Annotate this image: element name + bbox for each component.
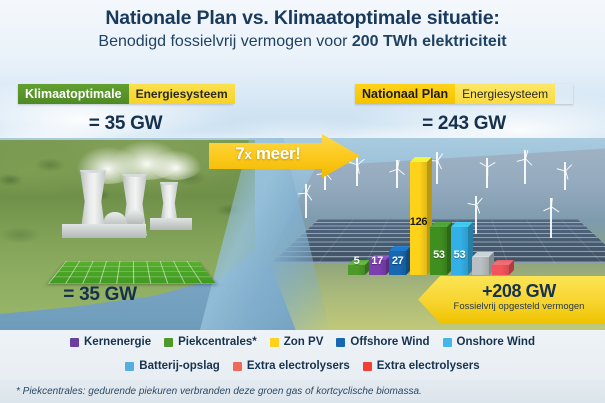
total-extra-value: +208 GW <box>438 281 600 302</box>
bar-value-label: 5 <box>348 255 365 267</box>
multiplier-word: meer! <box>251 144 300 163</box>
total-extra-caption: Fossielvrij opgesteld vermogen <box>434 301 604 312</box>
title-line-2-prefix: Benodigd fossielvrij vermogen voor <box>98 33 351 50</box>
plant-building-2 <box>150 218 192 230</box>
legend-item-extra-electrolysers[interactable]: Extra electrolysers <box>233 360 350 372</box>
infographic-root: Nationale Plan vs. Klimaatoptimale situa… <box>0 0 605 403</box>
footnote-text: * Piekcentrales: gedurende piekuren verb… <box>0 386 422 397</box>
left-scenario-card: Klimaatoptimale Energiesysteem = 35 GW <box>18 84 233 135</box>
left-badge-secondary: Energiesysteem <box>129 84 235 104</box>
legend-item-label: Extra electrolysers <box>247 360 350 372</box>
bar-7: 20 <box>472 257 489 275</box>
legend-item-kernenergie[interactable]: Kernenergie <box>70 336 151 348</box>
legend-item-zon-pv[interactable]: Zon PV <box>270 336 324 348</box>
right-badge-primary: Nationaal Plan <box>355 84 455 104</box>
legend-item-offshore-wind[interactable]: Offshore Wind <box>336 336 429 348</box>
legend-swatch-icon <box>443 338 452 347</box>
right-badge-secondary: Energiesysteem <box>455 84 555 104</box>
legend-swatch-icon <box>70 338 79 347</box>
right-scenario-card: Nationaal Plan Energiesysteem = 243 GW <box>355 84 573 135</box>
bar-1: 5 <box>348 265 365 275</box>
legend-row-2: Batterij-opslagExtra electrolysersExtra … <box>0 354 605 378</box>
capacity-bar-chart: 5172712653532010 <box>346 150 531 275</box>
bar-4: 126 <box>410 162 427 275</box>
footnote: * Piekcentrales: gedurende piekuren verb… <box>0 380 605 403</box>
bar-face <box>472 257 489 275</box>
legend-item-label: Extra electrolysers <box>377 360 480 372</box>
chart-legend: KernenergiePiekcentrales*Zon PVOffshore … <box>0 330 605 380</box>
green-field-left <box>48 261 216 284</box>
bar-side <box>509 260 514 275</box>
legend-swatch-icon <box>336 338 345 347</box>
steam-plume-3 <box>150 150 202 180</box>
title-line-2-emphasis: 200 TWh elektriciteit <box>352 33 507 50</box>
legend-item-onshore-wind[interactable]: Onshore Wind <box>443 336 535 348</box>
left-capacity-value: = 35 GW <box>18 113 233 135</box>
total-extra-banner: +208 GW Fossielvrij opgesteld vermogen <box>418 276 605 323</box>
page-title: Nationale Plan vs. Klimaatoptimale situa… <box>0 6 605 53</box>
left-scenario-badge: Klimaatoptimale Energiesysteem <box>18 84 233 104</box>
legend-swatch-icon <box>270 338 279 347</box>
bar-value-label: 126 <box>410 216 427 228</box>
bar-3: 27 <box>389 251 406 275</box>
legend-item-extra-electrolysers[interactable]: Extra electrolysers <box>363 360 480 372</box>
multiplier-arrow: 7x meer! <box>209 134 360 178</box>
bar-2: 17 <box>369 260 386 275</box>
right-capacity-value: = 243 GW <box>355 113 573 135</box>
legend-item-label: Zon PV <box>284 336 324 348</box>
legend-swatch-icon <box>363 362 372 371</box>
legend-item-label: Offshore Wind <box>350 336 429 348</box>
left-capacity-value-bottom: = 35 GW <box>0 284 200 306</box>
legend-item-label: Onshore Wind <box>457 336 535 348</box>
wind-turbine <box>545 198 557 238</box>
legend-swatch-icon <box>233 362 242 371</box>
bar-5: 53 <box>430 227 447 275</box>
legend-swatch-icon <box>125 362 134 371</box>
bar-value-label: 53 <box>451 249 468 261</box>
title-line-2: Benodigd fossielvrij vermogen voor 200 T… <box>0 31 605 53</box>
title-line-1: Nationale Plan vs. Klimaatoptimale situa… <box>0 6 605 30</box>
legend-row-1: KernenergiePiekcentrales*Zon PVOffshore … <box>0 330 605 354</box>
bar-value-label: 27 <box>389 255 406 267</box>
right-scenario-badge: Nationaal Plan Energiesysteem <box>355 84 573 104</box>
wind-turbine <box>560 162 570 190</box>
bar-value-label: 17 <box>369 255 386 267</box>
bar-value-label: 53 <box>430 249 447 261</box>
plant-building-1 <box>62 224 146 238</box>
legend-item-label: Kernenergie <box>84 336 151 348</box>
legend-swatch-icon <box>164 338 173 347</box>
left-badge-primary: Klimaatoptimale <box>18 84 129 104</box>
wind-turbine <box>300 184 312 218</box>
green-field-grid <box>48 261 216 284</box>
multiplier-arrow-label: 7x meer! <box>209 144 327 164</box>
legend-item-label: Piekcentrales* <box>178 336 257 348</box>
bar-8: 10 <box>492 265 509 275</box>
legend-item-batterij-opslag[interactable]: Batterij-opslag <box>125 360 220 372</box>
bar-face <box>492 265 509 275</box>
legend-item-piekcentrales[interactable]: Piekcentrales* <box>164 336 257 348</box>
legend-item-label: Batterij-opslag <box>139 360 220 372</box>
bar-6: 53 <box>451 227 468 275</box>
